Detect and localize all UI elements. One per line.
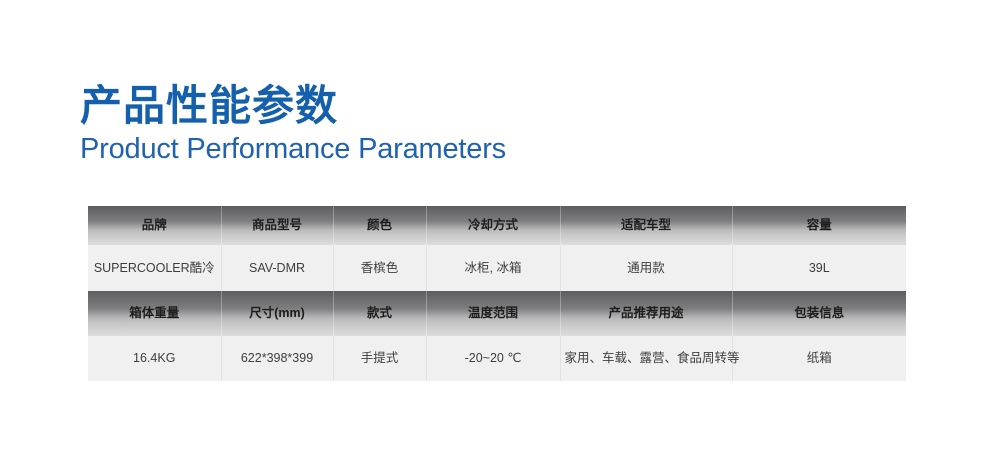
data-cell-recommended-use: 家用、车载、露营、食品周转等 xyxy=(560,336,732,381)
header-label: 冷却方式 xyxy=(427,218,560,233)
table-data-row-1: SUPERCOOLER酷冷 SAV-DMR 香槟色 冰柜, 冰箱 通用款 39L xyxy=(88,245,906,291)
data-cell-weight: 16.4KG xyxy=(88,336,221,381)
header-cell-model: 商品型号 xyxy=(221,206,333,245)
data-value: 家用、车载、露营、食品周转等 xyxy=(561,351,732,366)
data-cell-packaging: 纸箱 xyxy=(732,336,906,381)
header-label: 品牌 xyxy=(88,218,221,233)
header-label: 包装信息 xyxy=(733,306,907,321)
header-cell-style: 款式 xyxy=(333,291,426,336)
header-cell-weight: 箱体重量 xyxy=(88,291,221,336)
data-value: SAV-DMR xyxy=(222,261,333,276)
data-value: 冰柜, 冰箱 xyxy=(427,261,560,276)
page-title-english: Product Performance Parameters xyxy=(80,134,780,166)
page-title-chinese: 产品性能参数 xyxy=(80,84,780,128)
header-label: 颜色 xyxy=(334,218,426,233)
header-cell-dimensions: 尺寸(mm) xyxy=(221,291,333,336)
data-value: 香槟色 xyxy=(334,261,426,276)
data-value: SUPERCOOLER酷冷 xyxy=(88,261,221,276)
table-header-row-2: 箱体重量 尺寸(mm) 款式 温度范围 产品推荐用途 包装信息 xyxy=(88,291,906,336)
data-cell-capacity: 39L xyxy=(732,245,906,291)
data-cell-brand: SUPERCOOLER酷冷 xyxy=(88,245,221,291)
product-specifications-table: 品牌 商品型号 颜色 冷却方式 适配车型 容量 SUPERCOOLER酷冷 SA… xyxy=(88,206,906,381)
header-cell-recommended-use: 产品推荐用途 xyxy=(560,291,732,336)
header-cell-temperature-range: 温度范围 xyxy=(426,291,560,336)
table-data-row-2: 16.4KG 622*398*399 手提式 -20~20 ℃ 家用、车载、露营… xyxy=(88,336,906,381)
data-cell-color: 香槟色 xyxy=(333,245,426,291)
header-label: 尺寸(mm) xyxy=(222,306,333,321)
header-cell-cooling-method: 冷却方式 xyxy=(426,206,560,245)
table-header-row-1: 品牌 商品型号 颜色 冷却方式 适配车型 容量 xyxy=(88,206,906,245)
header-label: 容量 xyxy=(733,218,907,233)
header-label: 适配车型 xyxy=(561,218,732,233)
data-value: 纸箱 xyxy=(733,351,907,366)
product-spec-page: 产品性能参数 Product Performance Parameters 品牌… xyxy=(0,0,1000,452)
data-value: 622*398*399 xyxy=(222,351,333,366)
header-label: 商品型号 xyxy=(222,218,333,233)
header-label: 产品推荐用途 xyxy=(561,306,732,321)
data-cell-temperature-range: -20~20 ℃ xyxy=(426,336,560,381)
header-cell-color: 颜色 xyxy=(333,206,426,245)
data-cell-model: SAV-DMR xyxy=(221,245,333,291)
header-cell-brand: 品牌 xyxy=(88,206,221,245)
data-value: 39L xyxy=(733,261,907,276)
data-cell-dimensions: 622*398*399 xyxy=(221,336,333,381)
header-label: 箱体重量 xyxy=(88,306,221,321)
data-value: 手提式 xyxy=(334,351,426,366)
data-cell-cooling-method: 冰柜, 冰箱 xyxy=(426,245,560,291)
header-cell-packaging: 包装信息 xyxy=(732,291,906,336)
data-value: 通用款 xyxy=(561,261,732,276)
header-label: 温度范围 xyxy=(427,306,560,321)
page-heading: 产品性能参数 Product Performance Parameters xyxy=(80,84,780,166)
header-cell-vehicle-compatibility: 适配车型 xyxy=(560,206,732,245)
data-cell-vehicle-compatibility: 通用款 xyxy=(560,245,732,291)
data-value: 16.4KG xyxy=(88,351,221,366)
header-cell-capacity: 容量 xyxy=(732,206,906,245)
data-value: -20~20 ℃ xyxy=(427,351,560,366)
data-cell-style: 手提式 xyxy=(333,336,426,381)
header-label: 款式 xyxy=(334,306,426,321)
